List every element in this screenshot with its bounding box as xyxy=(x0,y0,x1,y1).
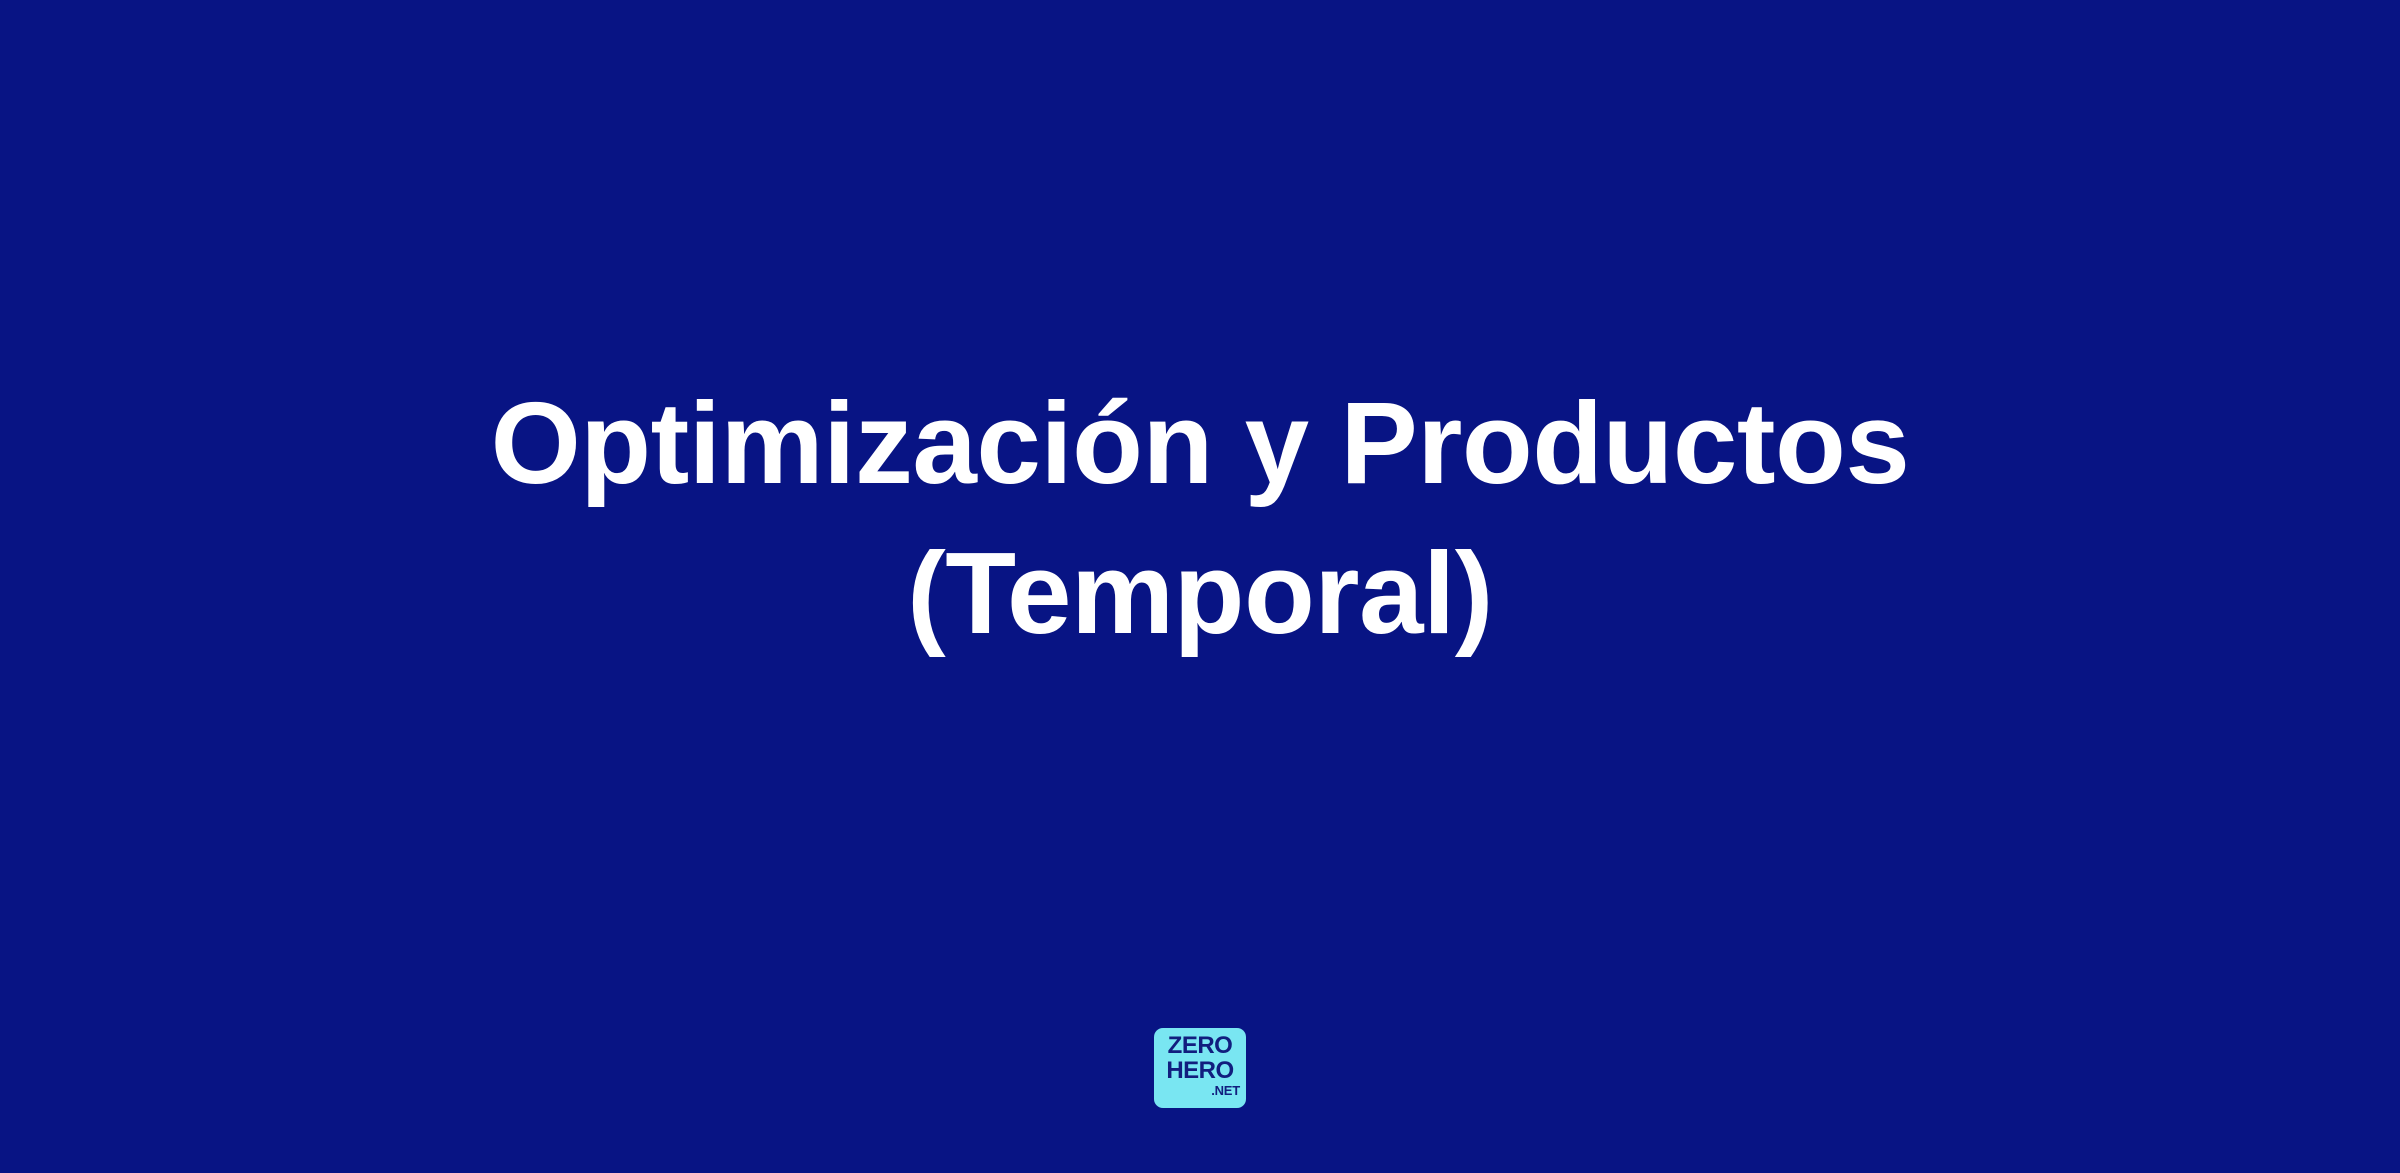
slide-canvas: Optimización y Productos (Temporal) ZERO… xyxy=(0,0,2400,1173)
logo-tld-net: .NET xyxy=(1211,1084,1240,1098)
logo-word-zero: ZERO xyxy=(1168,1033,1233,1058)
page-title-line-1: Optimización y Productos xyxy=(0,368,2400,518)
slide-title-block: Optimización y Productos (Temporal) xyxy=(0,0,2400,1173)
zerohero-net-logo[interactable]: ZERO HERO .NET xyxy=(1154,1028,1246,1108)
page-title-line-2: (Temporal) xyxy=(0,518,2400,668)
logo-word-hero: HERO xyxy=(1166,1058,1233,1083)
footer-logo-container: ZERO HERO .NET xyxy=(0,1028,2400,1108)
